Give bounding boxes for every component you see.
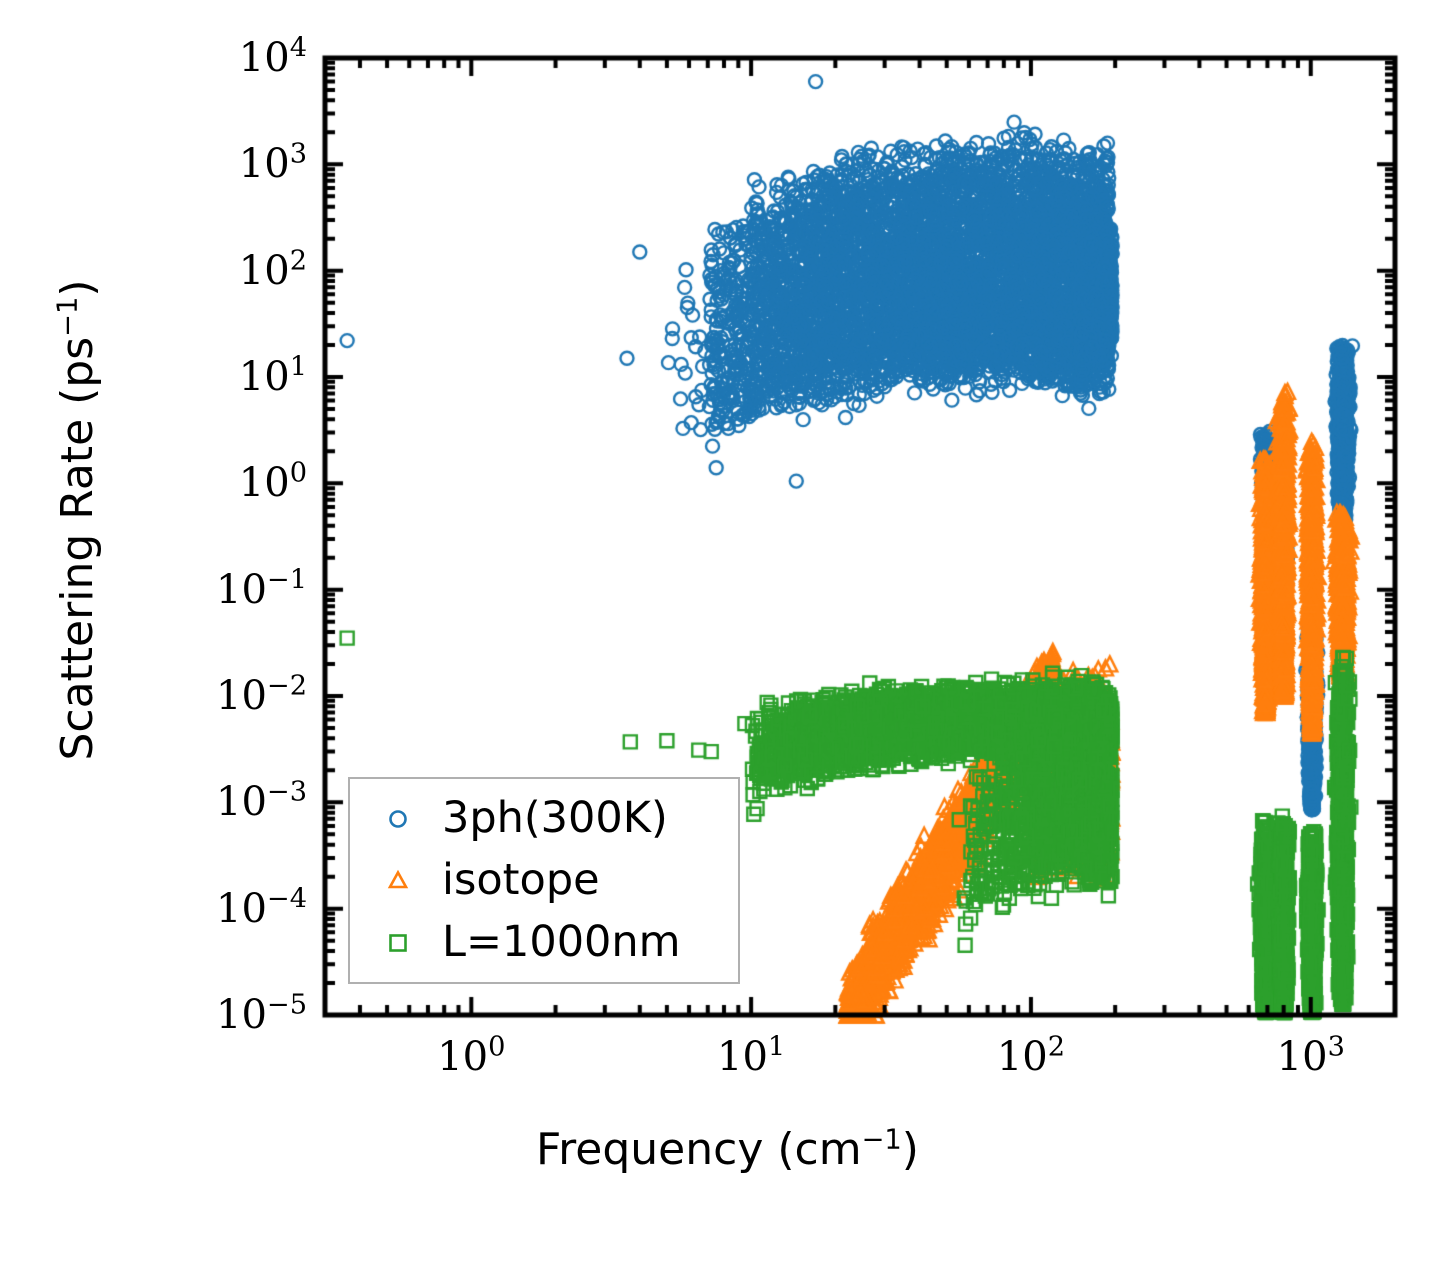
legend-label: isotope: [442, 859, 600, 902]
legend-items: 3ph(300K)isotopeL=1000nm: [350, 779, 738, 982]
x-axis-title: Frequency (cm−1): [0, 1128, 1455, 1172]
y-axis-title: Scattering Rate (ps−1): [56, 0, 100, 1060]
legend-label: 3ph(300K): [442, 797, 668, 840]
square-open-icon: [378, 930, 418, 956]
x-tick-label: 101: [717, 1037, 785, 1077]
x-tick-label: 102: [997, 1037, 1065, 1077]
circle-open-icon: [378, 806, 418, 832]
legend: 3ph(300K)isotopeL=1000nm: [348, 777, 740, 984]
legend-label: L=1000nm: [442, 921, 681, 964]
x-tick-label: 103: [1277, 1037, 1345, 1077]
triangle-open-icon: [378, 868, 418, 894]
legend-item: L=1000nm: [378, 912, 738, 974]
legend-item: isotope: [378, 850, 738, 912]
scatter-plot-figure: 10410310210110010−110−210−310−410−5 1001…: [0, 0, 1455, 1265]
x-tick-label: 100: [437, 1037, 505, 1077]
legend-item: 3ph(300K): [378, 788, 738, 850]
